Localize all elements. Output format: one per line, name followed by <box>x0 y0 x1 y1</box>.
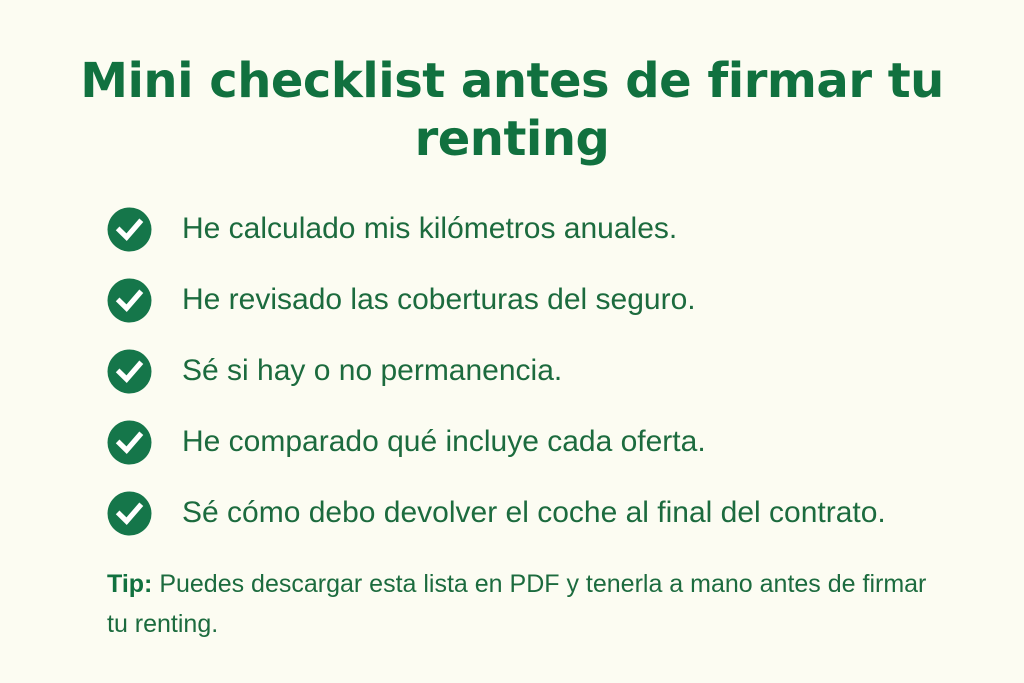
check-circle-icon <box>107 349 152 394</box>
list-item-label: Sé si hay o no permanencia. <box>182 353 562 389</box>
tip-label: Tip: <box>107 570 152 598</box>
tip-paragraph: Tip: Puedes descargar esta lista en PDF … <box>107 564 937 644</box>
check-circle-icon <box>107 278 152 323</box>
check-circle-icon <box>107 420 152 465</box>
list-item: Sé cómo debo devolver el coche al final … <box>107 487 997 539</box>
list-item-label: He comparado qué incluye cada oferta. <box>182 424 706 460</box>
list-item: He comparado qué incluye cada oferta. <box>107 416 997 468</box>
page-title: Mini checklist antes de firmar tu rentin… <box>62 52 962 168</box>
list-item-label: He revisado las coberturas del seguro. <box>182 282 696 318</box>
list-item: Sé si hay o no permanencia. <box>107 345 997 397</box>
list-item: He revisado las coberturas del seguro. <box>107 274 997 326</box>
checklist: He calculado mis kilómetros anuales. He … <box>107 203 997 558</box>
tip-text: Puedes descargar esta lista en PDF y ten… <box>107 570 926 638</box>
list-item-label: He calculado mis kilómetros anuales. <box>182 211 677 247</box>
check-circle-icon <box>107 207 152 252</box>
check-circle-icon <box>107 491 152 536</box>
list-item: He calculado mis kilómetros anuales. <box>107 203 997 255</box>
list-item-label: Sé cómo debo devolver el coche al final … <box>182 495 886 531</box>
checklist-card: Mini checklist antes de firmar tu rentin… <box>0 0 1024 683</box>
